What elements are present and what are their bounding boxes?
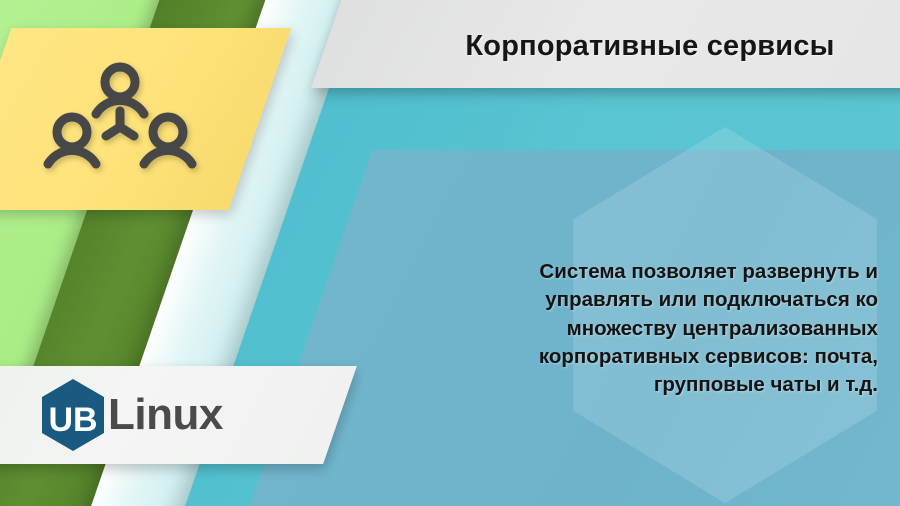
slide-canvas: UB (0, 0, 900, 506)
title-banner-inner: Корпоративные сервисы (330, 0, 900, 88)
logo-banner-inner: UB Linux (0, 366, 340, 464)
title-banner: Корпоративные сервисы (311, 0, 900, 88)
logo-wordmark: Linux (108, 393, 223, 437)
logo-banner: UB Linux (0, 366, 357, 464)
feature-icon-panel (0, 28, 291, 210)
logo-mark-text: UB (48, 401, 97, 439)
feature-icon-panel-inner (0, 28, 260, 210)
ub-hexagon-logo-icon: UB (40, 378, 106, 452)
people-group-network-icon (40, 49, 200, 189)
page-title: Корпоративные сервисы (465, 30, 834, 63)
slide-body-text: Система позволяет развернуть и управлять… (458, 258, 878, 399)
